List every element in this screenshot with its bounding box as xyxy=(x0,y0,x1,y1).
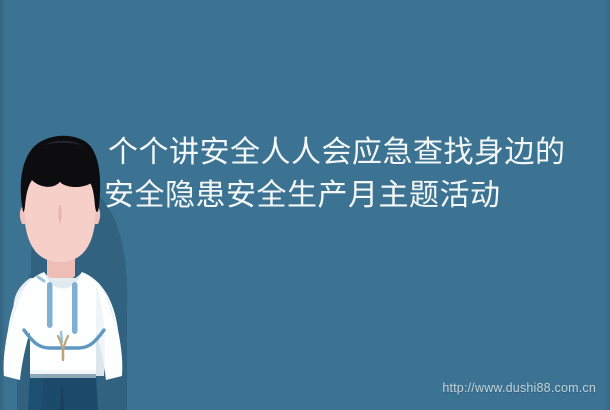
headline-line-2: 安全隐患安全生产月主题活动 xyxy=(104,174,574,217)
watermark-url: http://www.dushi88.com.cn xyxy=(442,381,596,395)
headline: 个个讲安全人人会应急查找身边的 安全隐患安全生产月主题活动 xyxy=(104,131,574,217)
headline-line-1: 个个讲安全人人会应急查找身边的 xyxy=(104,131,574,174)
promo-banner: 个个讲安全人人会应急查找身边的 安全隐患安全生产月主题活动 http://www… xyxy=(0,0,610,410)
